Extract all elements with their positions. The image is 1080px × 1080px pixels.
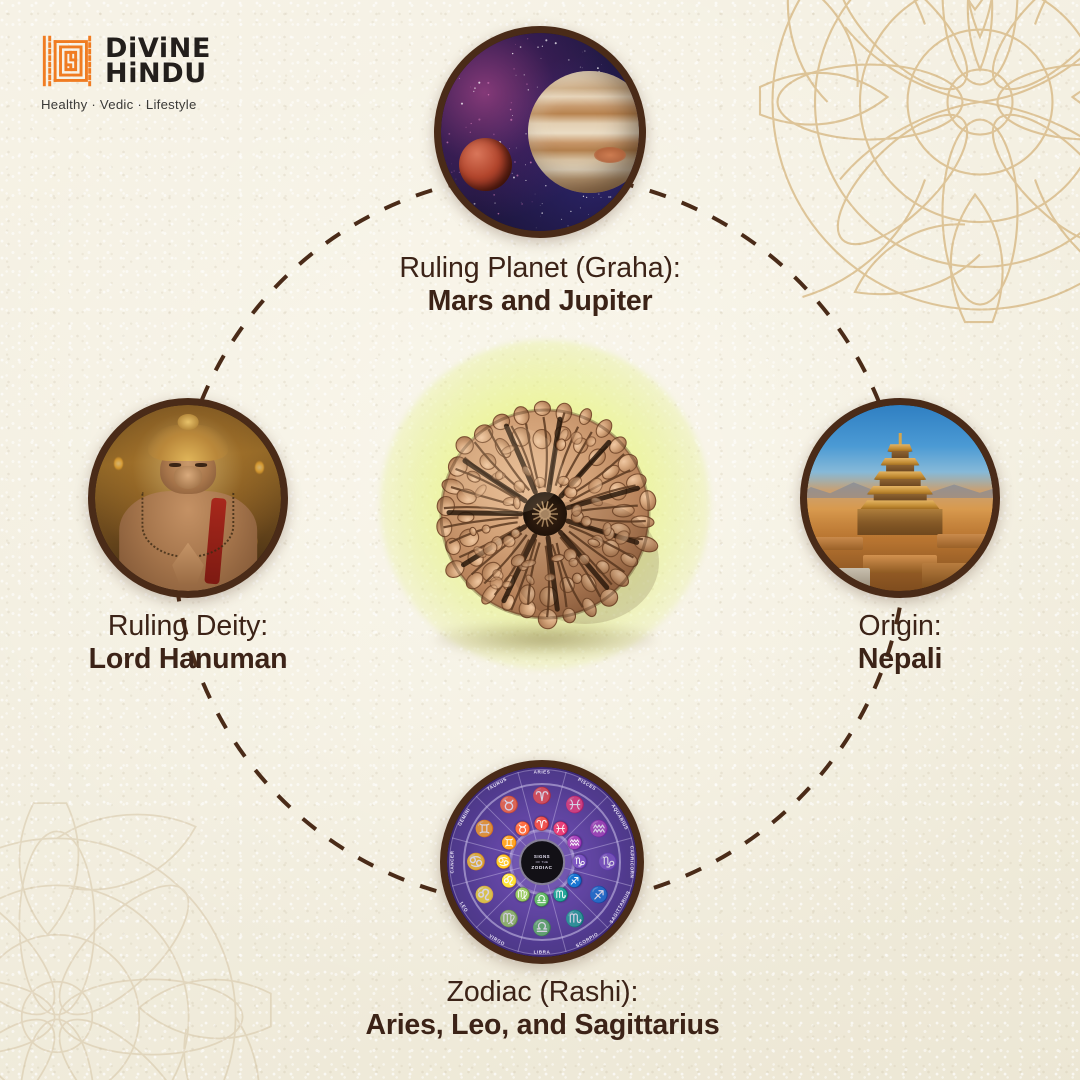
- zodiac-glyph-scorpio: ♏: [553, 887, 569, 903]
- rooftop: [922, 563, 993, 588]
- node-ruling-planet-circle[interactable]: [434, 26, 646, 238]
- zodiac-constellation-virgo: ♍: [499, 909, 519, 929]
- zodiac-glyph-gemini: ♊: [501, 835, 517, 851]
- rooftop: [937, 534, 989, 549]
- town-rooftops: [807, 509, 993, 591]
- pagoda-storey: [886, 465, 914, 473]
- zodiac-constellation-pisces: ♓: [565, 795, 585, 815]
- pagoda-storey: [879, 479, 920, 487]
- hanuman-crown: [148, 424, 228, 461]
- floral-mandala-icon-bottom-left: [0, 782, 292, 1080]
- great-red-spot: [594, 147, 626, 163]
- pagoda-storey: [873, 494, 926, 502]
- hanuman-icon: [95, 405, 281, 591]
- brand-name-line2: HiNDU: [105, 61, 211, 86]
- zodiac-constellation-capricorn: ♑: [598, 852, 618, 872]
- planets-icon: [441, 33, 639, 231]
- jupiter-planet: [528, 71, 639, 194]
- zodiac-glyph-taurus: ♉: [515, 821, 531, 837]
- rudraksha-bead-icon: [417, 386, 673, 642]
- label-key: Ruling Planet (Graha):: [320, 252, 760, 285]
- label-value: Aries, Leo, and Sagittarius: [315, 1009, 770, 1042]
- zodiac-glyph-cancer: ♋: [496, 854, 512, 870]
- zodiac-constellation-gemini: ♊: [475, 819, 495, 839]
- zodiac-glyph-libra: ♎: [534, 892, 550, 908]
- zodiac-glyph-aries: ♈: [534, 816, 550, 832]
- rooftop: [807, 568, 870, 589]
- zodiac-glyph-virgo: ♍: [515, 887, 531, 903]
- pagoda-spire: [898, 433, 901, 447]
- zodiac-constellation-leo: ♌: [475, 885, 495, 905]
- infographic-canvas: DiViNE HiNDU Healthy · Vedic · Lifestyle: [0, 0, 1080, 1080]
- zodiac-name-capricorn: CAPRICORN: [630, 846, 635, 879]
- pagoda-storey: [891, 451, 908, 459]
- node-zodiac-label: Zodiac (Rashi): Aries, Leo, and Sagittar…: [315, 976, 770, 1043]
- hub-line-2: OF THE: [536, 860, 549, 864]
- nepal-temple-icon: [807, 405, 993, 591]
- zodiac-constellation-sagittarius: ♐: [589, 885, 609, 905]
- zodiac-name-cancer: CANCER: [450, 851, 455, 874]
- zodiac-glyph-sagittarius: ♐: [567, 873, 583, 889]
- zodiac-hub: SIGNS OF THE ZODIAC: [519, 839, 565, 885]
- node-origin-label: Origin: Nepali: [750, 610, 1050, 677]
- node-origin-circle[interactable]: [800, 398, 1000, 598]
- zodiac-constellation-cancer: ♋: [466, 852, 486, 872]
- label-key: Origin:: [750, 610, 1050, 643]
- zodiac-glyph-aquarius: ♒: [567, 835, 583, 851]
- zodiac-constellation-aquarius: ♒: [589, 819, 609, 839]
- zodiac-constellation-scorpio: ♏: [565, 909, 585, 929]
- brand-tagline: Healthy · Vedic · Lifestyle: [41, 97, 280, 112]
- zodiac-name-aries: ARIES: [534, 770, 551, 775]
- oil-lamp-icon: [114, 457, 123, 470]
- zodiac-constellation-aries: ♈: [532, 786, 552, 806]
- zodiac-wheel-icon: ARIESPISCESAQUARIUSCAPRICORNSAGITTARIUSS…: [447, 767, 637, 957]
- zodiac-glyph-capricorn: ♑: [572, 854, 588, 870]
- floral-mandala-icon-top-right: [730, 0, 1080, 352]
- node-ruling-planet-label: Ruling Planet (Graha): Mars and Jupiter: [320, 252, 760, 319]
- label-value: Lord Hanuman: [18, 643, 358, 676]
- node-zodiac-circle[interactable]: ARIESPISCESAQUARIUSCAPRICORNSAGITTARIUSS…: [440, 760, 644, 964]
- zodiac-glyph-leo: ♌: [501, 873, 517, 889]
- hub-line-1: SIGNS: [534, 854, 550, 859]
- label-key: Ruling Deity:: [18, 610, 358, 643]
- label-value: Mars and Jupiter: [320, 285, 760, 318]
- brand-logo[interactable]: DiViNE HiNDU Healthy · Vedic · Lifestyle: [40, 34, 280, 112]
- zodiac-constellation-libra: ♎: [532, 918, 552, 938]
- label-key: Zodiac (Rashi):: [315, 976, 770, 1009]
- oil-lamp-icon: [255, 461, 264, 474]
- node-ruling-deity-label: Ruling Deity: Lord Hanuman: [18, 610, 358, 677]
- hub-line-3: ZODIAC: [531, 865, 552, 870]
- rooftop: [814, 537, 862, 550]
- node-ruling-deity-circle[interactable]: [88, 398, 288, 598]
- rudraksha-bead-image: [417, 386, 673, 642]
- label-value: Nepali: [750, 643, 1050, 676]
- maze-swastika-icon: [40, 34, 94, 88]
- zodiac-constellation-taurus: ♉: [499, 795, 519, 815]
- zodiac-name-libra: LIBRA: [534, 950, 551, 955]
